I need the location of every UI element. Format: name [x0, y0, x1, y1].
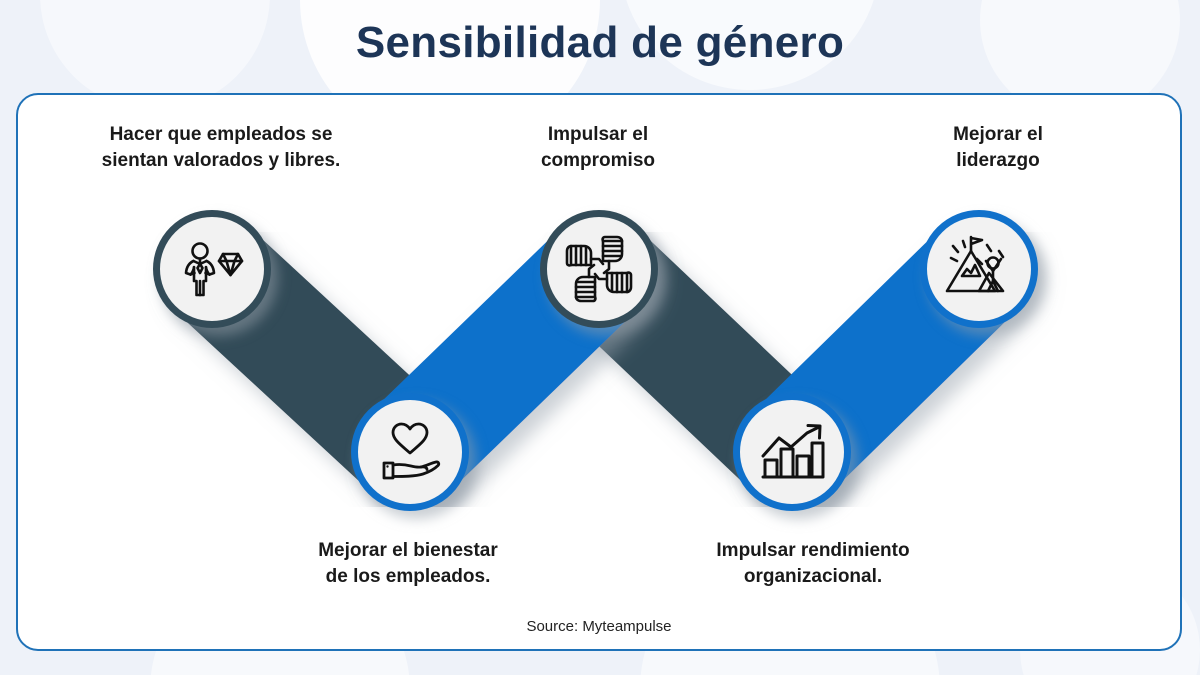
- step-node-5[interactable]: [920, 210, 1038, 328]
- step-node-2[interactable]: [351, 393, 469, 511]
- growth-bar-chart-icon: [755, 415, 829, 489]
- step-label-5-line-2: liderazgo: [878, 148, 1118, 174]
- step-label-3-line-2: compromiso: [473, 148, 723, 174]
- step-label-2-line-2: de los empleados.: [263, 564, 553, 590]
- source-caption: Source: Myteampulse: [18, 618, 1180, 635]
- step-label-1-line-2: sientan valorados y libres.: [56, 148, 386, 174]
- page-title: Sensibilidad de género: [0, 18, 1200, 68]
- step-node-3[interactable]: [540, 210, 658, 328]
- step-label-1-line-1: Hacer que empleados se: [56, 122, 386, 148]
- step-label-2: Mejorar el bienestar de los empleados.: [263, 538, 553, 589]
- zigzag-bands: [18, 95, 1182, 651]
- infographic-card: Hacer que empleados se sientan valorados…: [16, 93, 1182, 651]
- step-label-2-line-1: Mejorar el bienestar: [263, 538, 553, 564]
- step-label-3: Impulsar el compromiso: [473, 122, 723, 173]
- step-label-4: Impulsar rendimiento organizacional.: [663, 538, 963, 589]
- step-label-1: Hacer que empleados se sientan valorados…: [56, 122, 386, 173]
- step-label-3-line-1: Impulsar el: [473, 122, 723, 148]
- step-node-1[interactable]: [153, 210, 271, 328]
- four-hands-teamwork-icon: [561, 231, 637, 307]
- hand-heart-icon: [373, 415, 447, 489]
- step-node-4[interactable]: [733, 393, 851, 511]
- mountain-flag-achievement-icon: [941, 231, 1017, 307]
- step-label-5: Mejorar el liderazgo: [878, 122, 1118, 173]
- businessperson-diamond-icon: [176, 233, 248, 305]
- zigzag-diagram: [18, 95, 1182, 651]
- step-label-5-line-1: Mejorar el: [878, 122, 1118, 148]
- step-label-4-line-1: Impulsar rendimiento: [663, 538, 963, 564]
- step-label-4-line-2: organizacional.: [663, 564, 963, 590]
